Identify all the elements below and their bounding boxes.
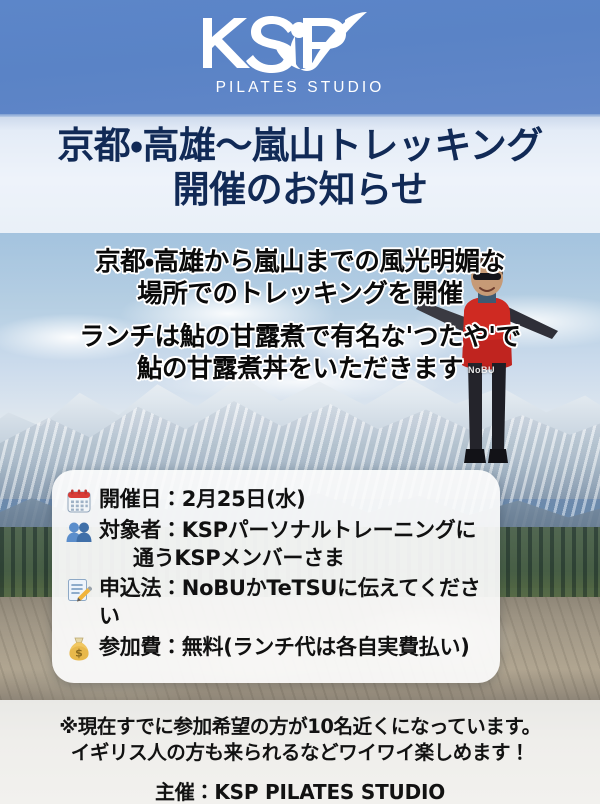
ksp-logo-icon (195, 12, 405, 74)
description-p2-line1: ランチは鮎の甘露煮で有名な'つたや'で (0, 321, 600, 353)
poster-title-line-1: 京都・高雄〜嵐山トレッキング (0, 125, 600, 167)
detail-text-audience-line2: 通うKSPメンバーさま (99, 545, 476, 573)
footer-band: ※現在すでに参加希望の方が10名近くになっています。 イギリス人の方も来られるな… (0, 700, 600, 804)
brand-logo: PILATES STUDIO (0, 12, 600, 96)
detail-text-fee: 参加費：無料(ランチ代は各自実費払い) (99, 634, 470, 662)
detail-text-application: 申込法：NoBUかTeTSUに伝えてください (99, 575, 488, 630)
detail-row-application: 申込法：NoBUかTeTSUに伝えてください (66, 575, 488, 630)
poster-title-line-2: 開催のお知らせ (0, 169, 600, 211)
detail-text-audience-line1: 対象者：KSPパーソナルトレーニングに (99, 518, 476, 542)
header-band: PILATES STUDIO (0, 0, 600, 114)
memo-icon (66, 577, 92, 605)
description-p1-line1: 京都・高雄から嵐山までの風光明媚な (0, 246, 600, 278)
description-block: 京都・高雄から嵐山までの風光明媚な 場所でのトレッキングを開催 ランチは鮎の甘露… (0, 246, 600, 386)
event-poster: PILATES STUDIO 京都・高雄〜嵐山トレッキング 開催のお知らせ (0, 0, 600, 804)
detail-text-date: 開催日：2月25日(水) (99, 486, 305, 514)
title-band: 京都・高雄〜嵐山トレッキング 開催のお知らせ (0, 114, 600, 233)
description-spacer (0, 311, 600, 321)
description-p1-line2: 場所でのトレッキングを開催 (0, 278, 600, 310)
people-icon (66, 519, 92, 547)
event-details-card: 開催日：2月25日(水) 対象者：KSPパーソナルトレーニングに 通うKSPメン… (52, 470, 500, 683)
footer-host: 主催：KSP PILATES STUDIO (0, 776, 600, 804)
logo-subtitle: PILATES STUDIO (0, 80, 600, 96)
svg-text:$: $ (75, 646, 83, 659)
description-p2-line2: 鮎の甘露煮丼をいただきます (0, 353, 600, 385)
detail-row-fee: $ 参加費：無料(ランチ代は各自実費払い) (66, 634, 488, 662)
calendar-icon (66, 488, 92, 516)
money-bag-icon: $ (66, 636, 92, 664)
detail-text-audience: 対象者：KSPパーソナルトレーニングに 通うKSPメンバーさま (99, 517, 476, 572)
detail-row-audience: 対象者：KSPパーソナルトレーニングに 通うKSPメンバーさま (66, 517, 488, 572)
footer-note-line-1: ※現在すでに参加希望の方が10名近くになっています。 (0, 714, 600, 740)
footer-note-line-2: イギリス人の方も来られるなどワイワイ楽しめます！ (0, 740, 600, 766)
detail-row-date: 開催日：2月25日(水) (66, 486, 488, 514)
